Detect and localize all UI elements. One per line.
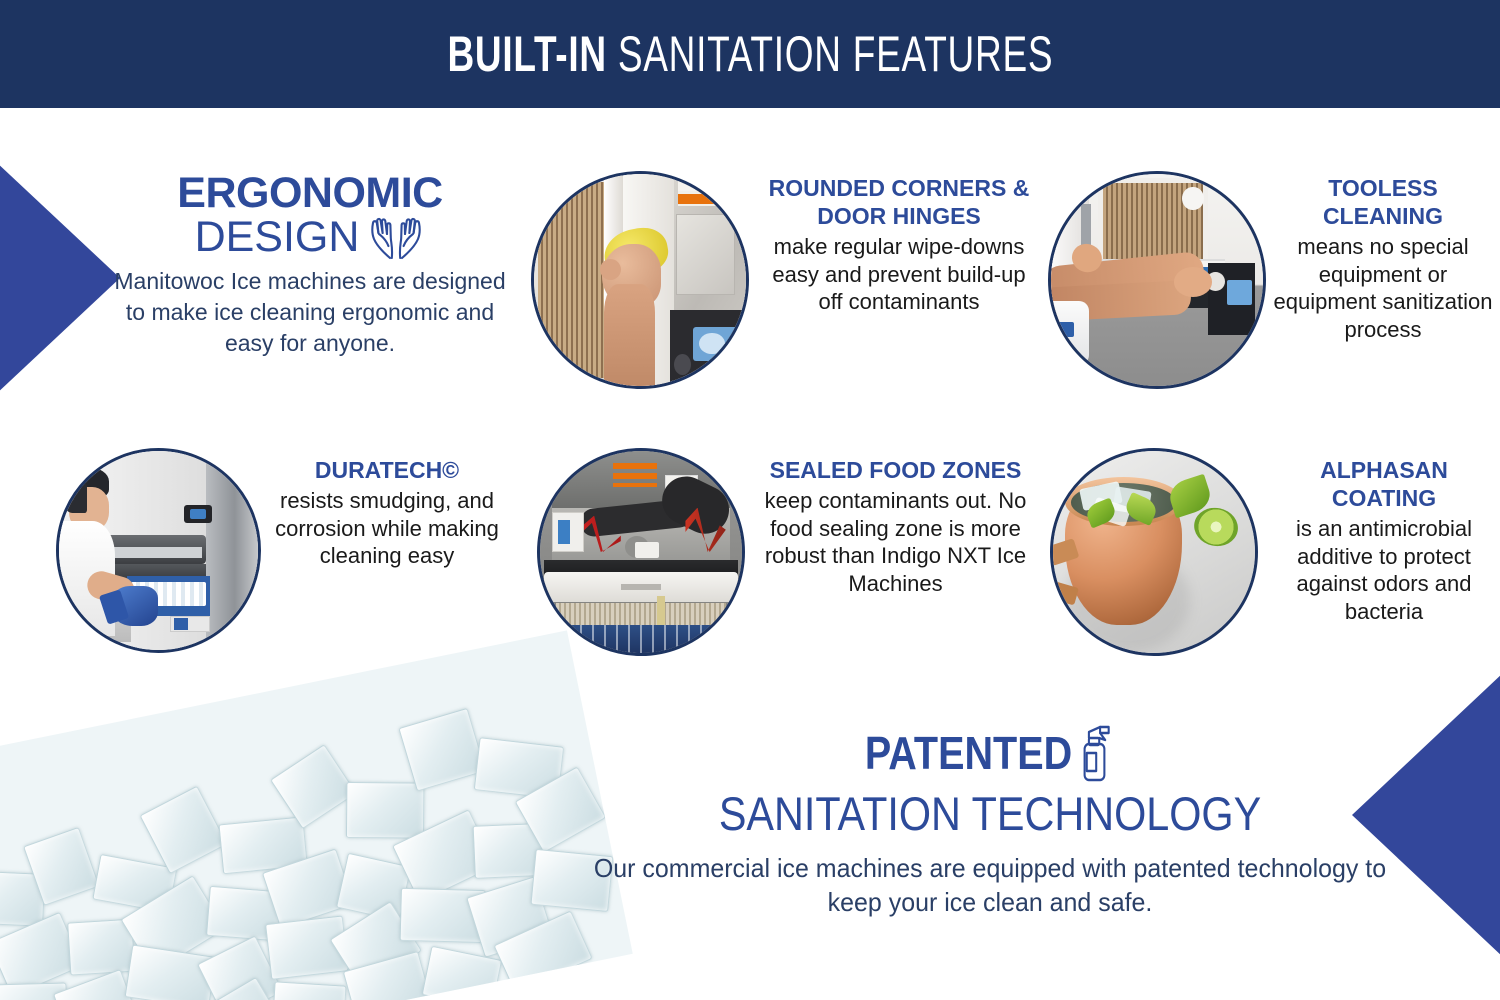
sealed-food-zones-heading: SEALED FOOD ZONES xyxy=(758,456,1033,484)
rounded-corners-body: make regular wipe-downs easy and prevent… xyxy=(764,233,1034,316)
feature-ergonomic: ERGONOMIC DESIGN Manitowoc Ice machine xyxy=(110,172,510,359)
sealed-food-zones-body: keep contaminants out. No food sealing z… xyxy=(758,487,1033,597)
rounded-corners-heading: ROUNDED CORNERS & DOOR HINGES xyxy=(764,174,1034,230)
photo-duratech xyxy=(56,448,261,653)
feature-tooless-cleaning: TOOLESS CLEANING means no special equipm… xyxy=(1272,174,1494,343)
page-title: BUILT-IN SANITATION FEATURES xyxy=(447,25,1053,83)
page-header: BUILT-IN SANITATION FEATURES xyxy=(0,0,1500,108)
photo-sealed-food-zones-image xyxy=(540,451,742,653)
infographic-page: BUILT-IN SANITATION FEATURES xyxy=(0,0,1500,1000)
page-title-bold: BUILT-IN xyxy=(447,26,606,82)
spray-bottle-icon xyxy=(1077,722,1115,784)
alphasan-body: is an antimicrobial additive to protect … xyxy=(1268,515,1500,625)
patented-heading-light: SANITATION TECHNOLOGY xyxy=(603,786,1377,841)
photo-alphasan xyxy=(1050,448,1258,656)
feature-duratech: DURATECH© resists smudging, and corrosio… xyxy=(262,456,512,570)
ergonomic-heading-light-text: DESIGN xyxy=(195,215,360,260)
alphasan-heading: ALPHASAN COATING xyxy=(1268,456,1500,512)
photo-rounded-corners xyxy=(531,171,749,389)
photo-sealed-food-zones xyxy=(537,448,745,656)
patented-heading-bold: PATENTED xyxy=(865,726,1072,780)
photo-tooless-cleaning-image xyxy=(1051,174,1263,386)
duratech-heading: DURATECH© xyxy=(262,456,512,484)
tooless-cleaning-heading: TOOLESS CLEANING xyxy=(1272,174,1494,230)
ergonomic-body: Manitowoc Ice machines are designed to m… xyxy=(110,266,510,359)
feature-rounded-corners: ROUNDED CORNERS & DOOR HINGES make regul… xyxy=(764,174,1034,316)
feature-alphasan: ALPHASAN COATING is an antimicrobial add… xyxy=(1268,456,1500,625)
patented-body: Our commercial ice machines are equipped… xyxy=(568,851,1413,920)
duratech-body: resists smudging, and corrosion while ma… xyxy=(262,487,512,570)
ergonomic-heading-light: DESIGN xyxy=(110,215,510,260)
arrow-left-decor xyxy=(0,160,120,396)
open-hands-icon xyxy=(367,216,425,260)
photo-duratech-image xyxy=(59,451,258,650)
photo-rounded-corners-image xyxy=(534,174,746,386)
patented-heading-bold-row: PATENTED xyxy=(612,722,1369,784)
tooless-cleaning-body: means no special equipment or equipment … xyxy=(1272,233,1494,343)
patented-section: PATENTED SANITATION TECHNOLOGY Our comme… xyxy=(550,722,1430,920)
feature-sealed-food-zones: SEALED FOOD ZONES keep contaminants out.… xyxy=(758,456,1033,597)
ice-cubes-photo xyxy=(0,630,633,1000)
photo-tooless-cleaning xyxy=(1048,171,1266,389)
page-title-light: SANITATION FEATURES xyxy=(606,26,1052,82)
photo-alphasan-image xyxy=(1053,451,1255,653)
ergonomic-heading-bold: ERGONOMIC xyxy=(110,172,510,215)
